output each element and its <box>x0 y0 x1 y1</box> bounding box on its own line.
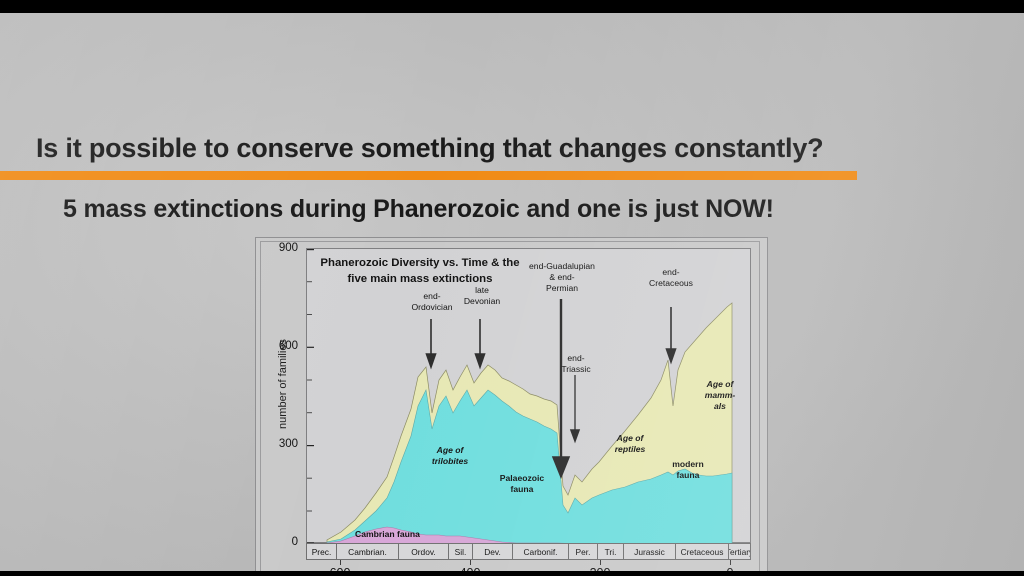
letterbox-bottom <box>0 571 1024 576</box>
x-tick-mark-400 <box>470 560 471 565</box>
annotation-end-cretaceous: end- Cretaceous <box>640 267 702 289</box>
slide-canvas: Is it possible to conserve something tha… <box>0 13 1024 571</box>
letterbox-top <box>0 0 1024 13</box>
page-title: Is it possible to conserve something tha… <box>36 133 916 164</box>
period-carboniferous: Carbonif. <box>513 544 569 559</box>
y-tick-900: 900 <box>264 242 298 254</box>
y-tick-300: 300 <box>264 438 298 450</box>
y-axis-major-ticks <box>307 250 314 543</box>
period-devonian: Dev. <box>473 544 513 559</box>
period-cretaceous: Cretaceous <box>676 544 729 559</box>
x-tick-mark-600 <box>340 560 341 565</box>
label-modern-fauna: modern fauna <box>659 459 717 481</box>
period-jurassic: Jurassic <box>624 544 676 559</box>
chart-title: Phanerozoic Diversity vs. Time & the fiv… <box>315 255 525 287</box>
period-cambrian: Cambrian. <box>337 544 399 559</box>
accent-rule <box>0 171 857 180</box>
arrow-end-cretaceous <box>667 307 676 362</box>
y-axis-label: number of families <box>277 339 289 429</box>
arrow-end-triassic <box>571 375 579 441</box>
annotation-late-devonian: late Devonian <box>451 285 513 307</box>
screen: Is it possible to conserve something tha… <box>0 0 1024 576</box>
y-tick-0: 0 <box>264 536 298 548</box>
arrow-late-devonian <box>476 319 485 367</box>
x-tick-mark-200 <box>600 560 601 565</box>
period-precambrian: Prec. <box>307 544 337 559</box>
annotation-end-permian: end-Guadalupian & end- Permian <box>516 261 608 294</box>
page-subtitle: 5 mass extinctions during Phanerozoic an… <box>63 195 963 224</box>
arrow-end-ordovician <box>427 319 436 367</box>
period-ordovician: Ordov. <box>399 544 449 559</box>
period-triassic: Tri. <box>598 544 624 559</box>
y-axis-minor-ticks <box>307 282 312 511</box>
period-permian: Per. <box>569 544 598 559</box>
period-tertiary: Tertiary <box>729 544 750 559</box>
x-tick-mark-0 <box>730 560 731 565</box>
label-cambrian-fauna: Cambrian fauna <box>340 529 435 540</box>
period-silurian: Sil. <box>449 544 473 559</box>
label-age-of-reptiles: Age of reptiles <box>602 433 658 455</box>
geologic-period-strip: Prec. Cambrian. Ordov. Sil. Dev. Carboni… <box>306 543 751 560</box>
figure-frame-outer: number of families 900 600 300 0 <box>255 237 768 576</box>
label-palaeozoic-fauna: Palaeozoic fauna <box>487 473 557 495</box>
label-age-of-trilobites: Age of trilobites <box>420 445 480 467</box>
plot-area: Phanerozoic Diversity vs. Time & the fiv… <box>306 248 751 543</box>
label-age-of-mammals: Age of mamm- als <box>697 379 743 413</box>
y-tick-600: 600 <box>264 340 298 352</box>
annotation-end-triassic: end- Triassic <box>552 353 600 375</box>
